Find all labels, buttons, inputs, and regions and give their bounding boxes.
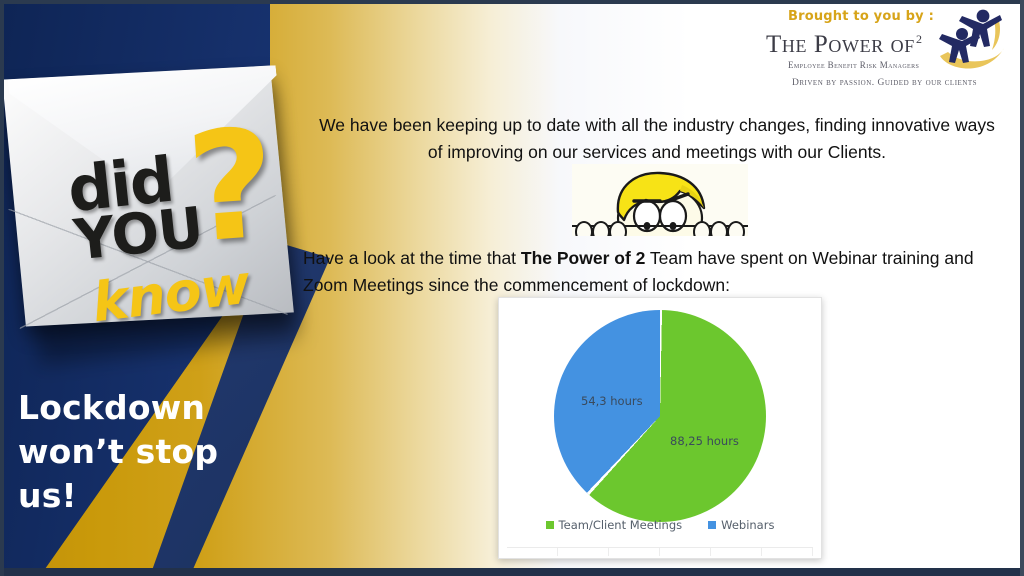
legend-item-meetings: Team/Client Meetings [546,518,683,532]
intro-paragraph: We have been keeping up to date with all… [312,112,1002,166]
frame-border-bottom [0,568,1024,576]
chart-bottom-ticks [507,548,813,556]
slide-canvas: ? did YOU know Lockdown won’t stop us! B… [0,0,1024,576]
pie-plot-area: 54,3 hours 88,25 hours [554,310,766,522]
legend-swatch-green [546,521,554,529]
two-people-swoosh-logo-icon [936,6,1010,80]
did-you-know-envelope-graphic: ? did YOU know [6,62,296,362]
brand-block: Brought to you by : The Power of 2 Emplo… [760,4,1010,96]
frame-border-left [0,0,4,576]
chart-intro-text-bold: The Power of 2 [521,248,645,268]
pie-label-meetings: 88,25 hours [670,434,739,448]
legend-label-webinars: Webinars [721,518,774,532]
headline-line-2: won’t stop [18,430,248,474]
legend-item-webinars: Webinars [708,518,774,532]
brand-name: The Power of [766,31,915,59]
chart-intro-text-before: Have a look at the time that [303,248,521,268]
frame-border-top [0,0,1024,4]
legend-label-meetings: Team/Client Meetings [559,518,683,532]
headline-line-1: Lockdown [18,386,248,430]
chart-legend: Team/Client Meetings Webinars [499,518,821,532]
page-title: Lockdown won’t stop us! [18,386,248,518]
legend-swatch-blue [708,521,716,529]
brand-superscript: 2 [916,32,922,47]
pie-label-webinars: 54,3 hours [581,394,643,408]
peeking-cartoon-face-icon [572,164,748,236]
brand-subtitle: Employee Benefit Risk Managers [788,60,919,70]
did-you-know-lettering: ? did YOU know [6,62,296,362]
headline-line-3: us! [18,474,248,518]
pie-slice-separators [554,310,766,522]
hours-pie-chart: 54,3 hours 88,25 hours Team/Client Meeti… [498,297,822,559]
chart-intro-paragraph: Have a look at the time that The Power o… [303,245,1015,299]
brand-tagline: Brought to you by : [788,9,934,24]
frame-border-right [1020,0,1024,576]
